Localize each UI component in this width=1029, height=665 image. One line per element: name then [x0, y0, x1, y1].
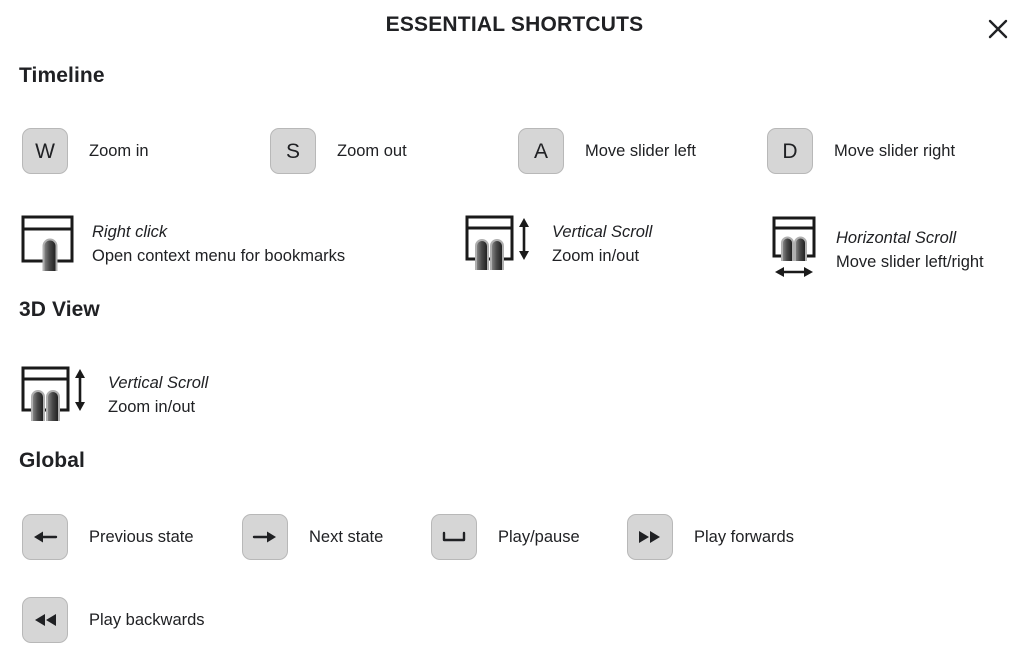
keycap-spacebar[interactable]: [431, 514, 477, 560]
shortcut-label: Previous state: [89, 527, 194, 548]
shortcut-item-right-click[interactable]: Right click Open context menu for bookma…: [20, 216, 345, 274]
shortcut-item-move-slider-right[interactable]: D Move slider right: [767, 122, 955, 180]
arrow-right-icon: [252, 527, 278, 547]
mouse-right-click-icon: [20, 213, 76, 278]
fast-forward-icon: [636, 528, 664, 546]
shortcut-action: Vertical Scroll: [552, 221, 652, 245]
keycap-label: W: [35, 141, 55, 162]
shortcut-item-horizontal-scroll[interactable]: Horizontal Scroll Move slider left/right: [770, 222, 984, 280]
spacebar-icon: [441, 529, 467, 545]
close-icon: [987, 18, 1009, 40]
shortcut-item-next-state[interactable]: Next state: [242, 508, 383, 566]
shortcut-item-play-pause[interactable]: Play/pause: [431, 508, 580, 566]
keycap-arrow-right[interactable]: [242, 514, 288, 560]
shortcut-item-play-backwards[interactable]: Play backwards: [22, 591, 205, 649]
keycap-rewind[interactable]: [22, 597, 68, 643]
section-heading-3d-view: 3D View: [19, 298, 100, 322]
close-button[interactable]: [981, 12, 1015, 46]
keycap-arrow-left[interactable]: [22, 514, 68, 560]
keycap-a[interactable]: A: [518, 128, 564, 174]
shortcut-item-vertical-scroll-timeline[interactable]: Vertical Scroll Zoom in/out: [464, 216, 652, 274]
keycap-label: S: [286, 141, 300, 162]
shortcut-action: Right click: [92, 221, 345, 245]
rewind-icon: [31, 611, 59, 629]
shortcut-description: Open context menu for bookmarks: [92, 245, 345, 269]
keycap-w[interactable]: W: [22, 128, 68, 174]
shortcut-action: Horizontal Scroll: [836, 227, 984, 251]
section-heading-timeline: Timeline: [19, 64, 105, 88]
shortcut-label: Move slider right: [834, 141, 955, 162]
keycap-d[interactable]: D: [767, 128, 813, 174]
mouse-horizontal-scroll-icon: [770, 214, 820, 289]
shortcut-label: Move slider left: [585, 141, 696, 162]
mouse-vertical-scroll-icon: [464, 213, 536, 278]
shortcut-description: Zoom in/out: [108, 396, 208, 420]
shortcut-label: Play forwards: [694, 527, 794, 548]
shortcut-label: Play/pause: [498, 527, 580, 548]
shortcut-item-move-slider-left[interactable]: A Move slider left: [518, 122, 696, 180]
shortcut-description: Zoom in/out: [552, 245, 652, 269]
mouse-vertical-scroll-icon: [20, 364, 92, 429]
page-title: ESSENTIAL SHORTCUTS: [0, 13, 1029, 37]
shortcut-item-play-forwards[interactable]: Play forwards: [627, 508, 794, 566]
keycap-fast-forward[interactable]: [627, 514, 673, 560]
shortcut-label: Zoom out: [337, 141, 407, 162]
shortcut-item-zoom-out[interactable]: S Zoom out: [270, 122, 407, 180]
shortcut-item-previous-state[interactable]: Previous state: [22, 508, 194, 566]
shortcut-item-zoom-in[interactable]: W Zoom in: [22, 122, 149, 180]
section-heading-global: Global: [19, 449, 85, 473]
keycap-label: A: [534, 141, 548, 162]
shortcut-label: Next state: [309, 527, 383, 548]
arrow-left-icon: [32, 527, 58, 547]
keycap-label: D: [782, 141, 797, 162]
shortcut-item-vertical-scroll-3d[interactable]: Vertical Scroll Zoom in/out: [20, 367, 208, 425]
shortcut-label: Play backwards: [89, 610, 205, 631]
shortcut-description: Move slider left/right: [836, 251, 984, 275]
shortcut-label: Zoom in: [89, 141, 149, 162]
keycap-s[interactable]: S: [270, 128, 316, 174]
shortcut-action: Vertical Scroll: [108, 372, 208, 396]
